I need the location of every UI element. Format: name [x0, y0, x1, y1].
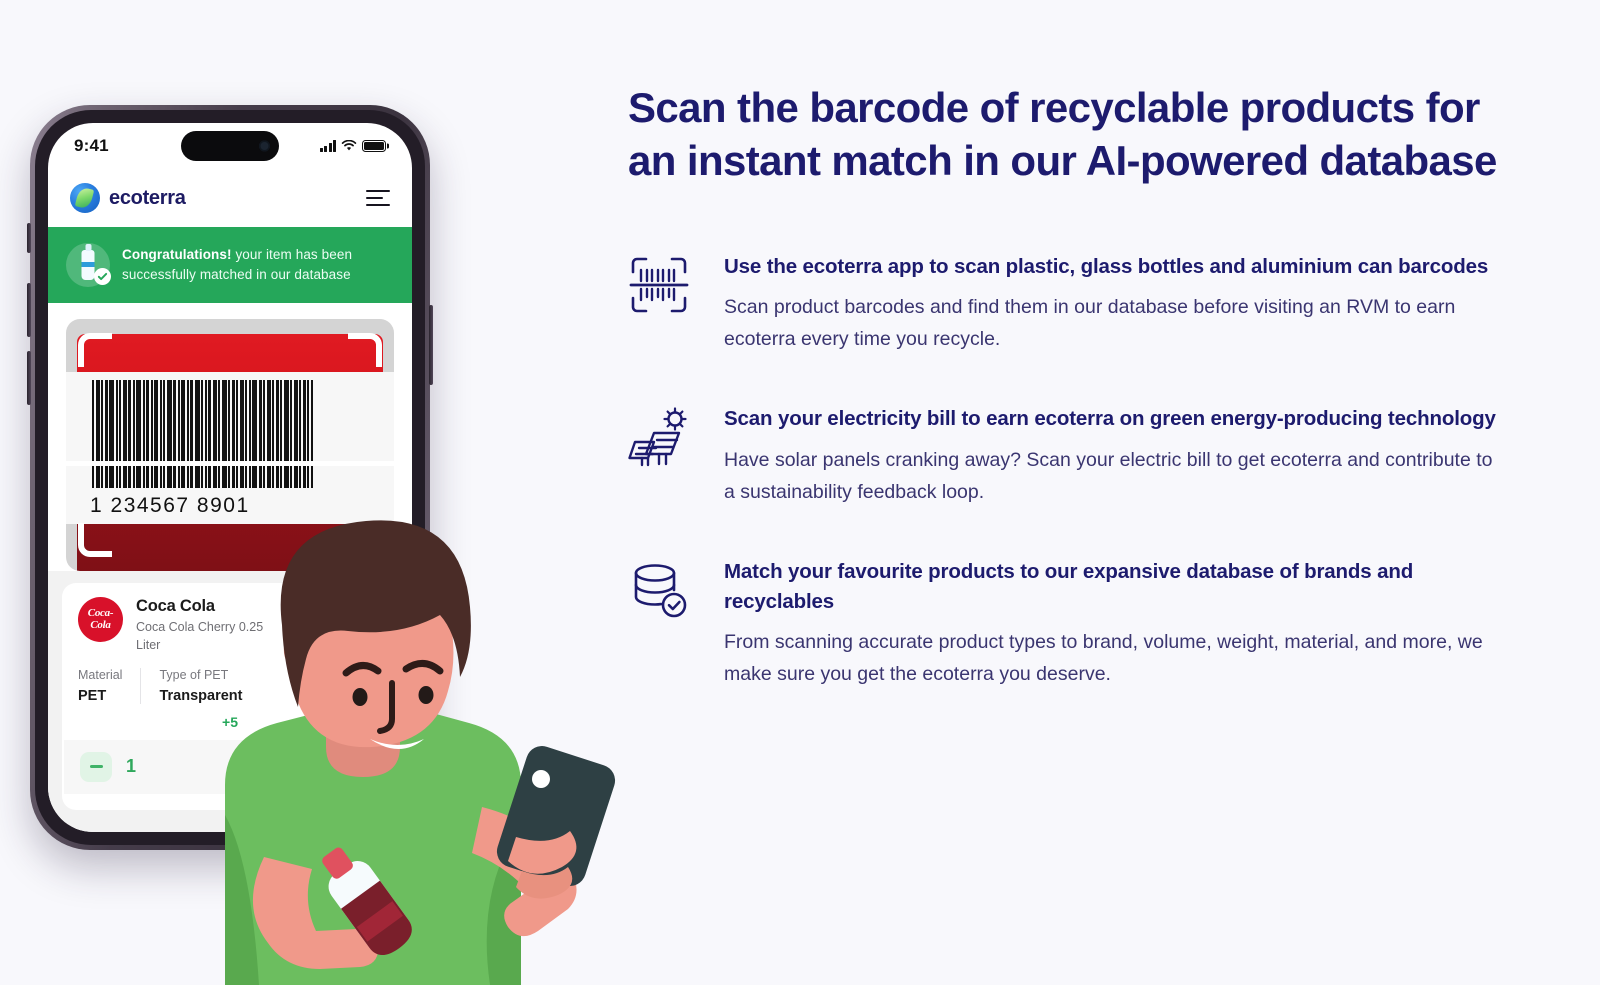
page-title: Scan the barcode of recyclable products …: [628, 82, 1508, 188]
feature-description: From scanning accurate product types to …: [724, 627, 1508, 690]
cellular-signal-icon: [320, 140, 337, 152]
ecoterra-logo-icon: [70, 183, 100, 213]
phone-mute-switch[interactable]: [27, 223, 31, 253]
feature-body: Scan your electricity bill to earn ecote…: [724, 404, 1508, 508]
banner-message: Congratulations! your item has been succ…: [122, 245, 394, 284]
battery-full-icon: [362, 140, 386, 152]
feature-body: Use the ecoterra app to scan plastic, gl…: [724, 252, 1508, 356]
content-pane: Scan the barcode of recyclable products …: [628, 0, 1548, 985]
feature-body: Match your favourite products to our exp…: [724, 557, 1508, 690]
feature-item: Match your favourite products to our exp…: [628, 557, 1508, 690]
status-indicators: [320, 140, 387, 152]
app-bar: ecoterra: [48, 169, 412, 227]
feature-title: Use the ecoterra app to scan plastic, gl…: [724, 252, 1508, 282]
bottle-matched-icon: [66, 243, 110, 287]
spec-label: Material: [78, 668, 122, 682]
phone-power-button[interactable]: [429, 305, 433, 385]
spec-value: PET: [78, 688, 122, 704]
database-check-icon: [628, 557, 694, 621]
phone-showcase-pane: 9:41: [0, 0, 620, 985]
minus-icon[interactable]: [80, 752, 112, 782]
phone-volume-down-button[interactable]: [27, 351, 31, 405]
phone-volume-up-button[interactable]: [27, 283, 31, 337]
coca-cola-logo-icon: Coca-Cola: [78, 597, 123, 642]
feature-title: Scan your electricity bill to earn ecote…: [724, 404, 1508, 434]
barcode-scan-icon: [628, 252, 694, 316]
hamburger-menu-icon[interactable]: [366, 190, 390, 207]
feature-description: Have solar panels cranking away? Scan yo…: [724, 445, 1508, 508]
feature-item: Use the ecoterra app to scan plastic, gl…: [628, 252, 1508, 356]
match-success-banner: Congratulations! your item has been succ…: [48, 227, 412, 303]
wifi-icon: [341, 140, 357, 152]
front-camera-icon: [259, 141, 270, 152]
feature-description: Scan product barcodes and find them in o…: [724, 292, 1508, 355]
man-scanning-bottle-illustration: [130, 485, 620, 985]
app-brand: ecoterra: [70, 183, 186, 213]
feature-list: Use the ecoterra app to scan plastic, gl…: [628, 252, 1508, 691]
check-circle-icon: [94, 268, 111, 285]
app-brand-name: ecoterra: [109, 187, 186, 210]
feature-item: Scan your electricity bill to earn ecote…: [628, 404, 1508, 508]
feature-title: Match your favourite products to our exp…: [724, 557, 1508, 616]
dynamic-island: [181, 131, 279, 161]
status-time: 9:41: [74, 136, 109, 156]
coca-cola-logo-text: Coca-Cola: [78, 608, 123, 631]
bottle-shape: [82, 250, 95, 280]
banner-lead: Congratulations!: [122, 247, 232, 262]
solar-panel-sun-icon: [628, 404, 694, 468]
status-bar: 9:41: [48, 123, 412, 169]
